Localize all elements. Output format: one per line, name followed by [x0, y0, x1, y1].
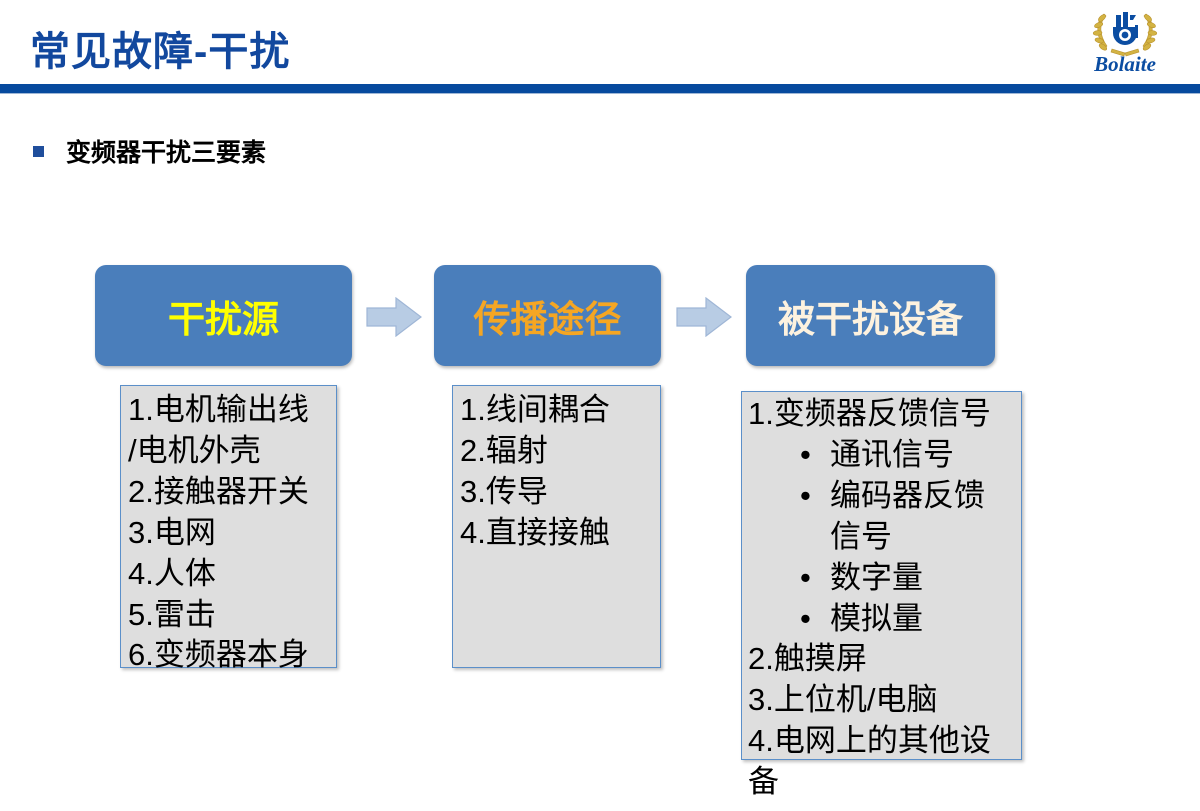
list-item: 备	[748, 762, 1048, 803]
list-subitem-continuation: 信号	[748, 517, 1048, 558]
subtitle-row: 变频器干扰三要素	[33, 133, 266, 169]
list-item: 3.上位机/电脑	[748, 680, 1048, 721]
list-item: 1.线间耦合	[460, 390, 720, 431]
list-subitem: •模拟量	[748, 599, 1048, 640]
list-item: 2.辐射	[460, 431, 720, 472]
list-subitem-label: 编码器反馈	[830, 478, 985, 513]
bullet-dot-icon: •	[800, 558, 830, 599]
flow-header-victim[interactable]: 被干扰设备	[746, 265, 995, 366]
list-subitem: •编码器反馈	[748, 476, 1048, 517]
subtitle-label: 变频器干扰三要素	[66, 133, 266, 169]
flow-header-label: 被干扰设备	[778, 289, 963, 343]
list-item: 2.触摸屏	[748, 639, 1048, 680]
list-item: 3.传导	[460, 472, 720, 513]
title-divider	[0, 84, 1200, 93]
slide-header: 常见故障-干扰	[0, 0, 1200, 100]
list-subitem: •通讯信号	[748, 435, 1048, 476]
list-item: /电机外壳	[128, 431, 388, 472]
list-subitem: •数字量	[748, 558, 1048, 599]
bullet-dot-icon: •	[800, 476, 830, 517]
list-item: 4.电网上的其他设	[748, 721, 1048, 762]
list-item: 4.直接接触	[460, 513, 720, 554]
page-title: 常见故障-干扰	[30, 19, 290, 77]
list-subitem-label: 通讯信号	[830, 437, 954, 472]
right-arrow-icon	[366, 297, 422, 337]
list-item: 6.变频器本身	[128, 635, 388, 676]
right-arrow-icon	[676, 297, 732, 337]
list-subitem-label: 数字量	[830, 560, 923, 595]
flow-list-source: 1.电机输出线 /电机外壳 2.接触器开关 3.电网 4.人体 5.雷击 6.变…	[128, 390, 388, 676]
list-item: 1.变频器反馈信号	[748, 394, 1048, 435]
brand-logo: Bolaite	[1066, 4, 1184, 80]
list-item: 3.电网	[128, 513, 388, 554]
list-subitem-label: 模拟量	[830, 601, 923, 636]
list-item: 1.电机输出线	[128, 390, 388, 431]
bullet-dot-icon: •	[800, 599, 830, 640]
square-bullet-icon	[33, 146, 44, 157]
bullet-dot-icon: •	[800, 435, 830, 476]
flow-header-source[interactable]: 干扰源	[95, 265, 352, 366]
flow-list-path: 1.线间耦合 2.辐射 3.传导 4.直接接触	[460, 390, 720, 554]
flow-header-label: 干扰源	[168, 289, 279, 343]
list-item: 5.雷击	[128, 595, 388, 636]
flow-list-victim: 1.变频器反馈信号 •通讯信号 •编码器反馈 信号 •数字量 •模拟量 2.触摸…	[748, 394, 1048, 803]
flow-header-label: 传播途径	[474, 289, 622, 343]
list-item: 2.接触器开关	[128, 472, 388, 513]
brand-wordmark: Bolaite	[1066, 54, 1184, 75]
flow-header-path[interactable]: 传播途径	[434, 265, 661, 366]
list-item: 4.人体	[128, 554, 388, 595]
bolaite-emblem-icon	[1090, 4, 1160, 58]
